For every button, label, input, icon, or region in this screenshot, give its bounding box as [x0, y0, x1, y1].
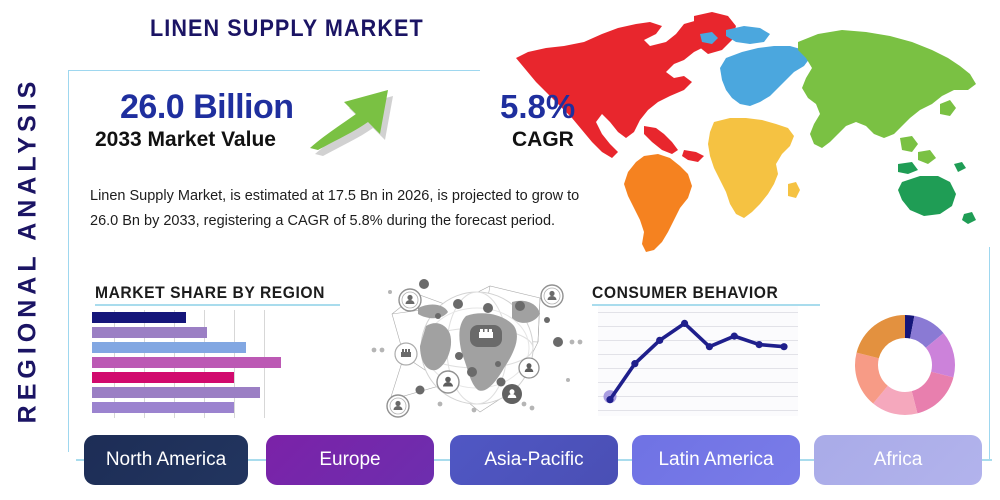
market-share-rule	[95, 304, 340, 306]
region-pill-europe[interactable]: Europe	[266, 435, 434, 485]
bar-row	[92, 312, 186, 323]
region-pill-latin-america[interactable]: Latin America	[632, 435, 800, 485]
line-chart-series	[598, 306, 798, 416]
region-pill-asia-pacific[interactable]: Asia-Pacific	[450, 435, 618, 485]
regional-analysis-side-label: REGIONAL ANALYSIS	[0, 0, 56, 500]
market-share-bar-chart	[92, 310, 287, 418]
market-share-heading: MARKET SHARE BY REGION	[95, 283, 325, 303]
segment-donut-chart	[852, 312, 958, 418]
market-description: Linen Supply Market, is estimated at 17.…	[90, 184, 600, 234]
cagr-caption: CAGR	[512, 128, 574, 152]
bar-row	[92, 387, 260, 398]
consumer-behavior-line-chart	[598, 306, 798, 416]
cagr-number: 5.8%	[500, 88, 575, 126]
bar-row	[92, 342, 246, 353]
region-pill-africa[interactable]: Africa	[814, 435, 982, 485]
bar-row	[92, 357, 281, 368]
region-pill-label: Europe	[319, 449, 380, 471]
bar-row	[92, 327, 207, 338]
bar-row	[92, 372, 234, 383]
page-title: LINEN SUPPLY MARKET	[150, 15, 424, 43]
region-pill-label: Asia-Pacific	[484, 449, 583, 471]
bar-chart-bars	[92, 310, 287, 418]
region-pill-label: Africa	[874, 449, 923, 471]
region-pill-label: Latin America	[658, 449, 773, 471]
consumer-behavior-heading: CONSUMER BEHAVIOR	[592, 283, 778, 303]
global-network-globe-icon	[362, 272, 592, 424]
bar-row	[92, 402, 234, 413]
growth-arrow-icon	[310, 80, 410, 160]
side-label-text: REGIONAL ANALYSIS	[14, 77, 43, 424]
infographic-root: REGIONAL ANALYSIS LINEN SUPPLY MARKET	[0, 0, 1000, 500]
market-value-caption: 2033 Market Value	[95, 128, 276, 152]
hero-metrics: 26.0 Billion 2033 Market Value 5.8% CAGR	[95, 88, 515, 160]
region-pill-label: North America	[106, 449, 226, 471]
region-pill-north-america[interactable]: North America	[84, 435, 248, 485]
market-value-number: 26.0 Billion	[120, 88, 294, 127]
